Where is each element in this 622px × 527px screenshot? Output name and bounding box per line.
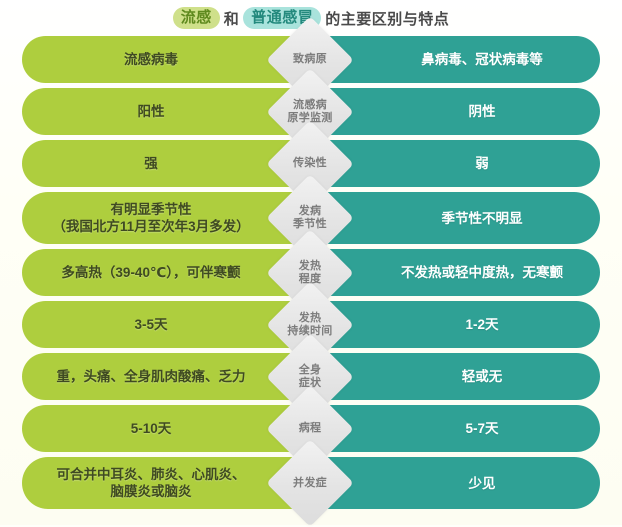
text-line: 鼻病毒、冠状病毒等 [421,51,543,68]
row-right-text: 季节性不明显 [442,210,523,227]
row-left-text: 5-10天 [131,420,172,437]
title-conjunction: 和 [224,8,240,29]
comparison-rows: 流感病毒鼻病毒、冠状病毒等致病原阳性阴性流感病原学监测强弱传染性有明显季节性（我… [0,36,622,514]
row-right-text: 1-2天 [465,316,498,333]
row-right-commoncold-cell: 季节性不明显 [322,192,600,244]
row-right-commoncold-cell: 鼻病毒、冠状病毒等 [322,36,600,83]
row-right-text: 轻或无 [462,368,503,385]
text-line: 有明显季节性 [52,201,249,218]
row-left-text: 多高热（39-40℃），可伴寒颤 [61,264,240,281]
text-line: 季节性不明显 [442,210,523,227]
row-right-commoncold-cell: 轻或无 [322,353,600,400]
title-pill-influenza: 流感 [173,7,220,29]
row-right-commoncold-cell: 弱 [322,140,600,187]
text-line: 5-7天 [465,420,498,437]
row-right-commoncold-cell: 不发热或轻中度热，无寒颤 [322,249,600,296]
row-left-text: 流感病毒 [124,51,178,68]
row-right-text: 不发热或轻中度热，无寒颤 [401,264,563,281]
row-right-text: 5-7天 [465,420,498,437]
text-line: 多高热（39-40℃），可伴寒颤 [61,264,240,281]
row-left-text: 可合并中耳炎、肺炎、心肌炎、脑膜炎或脑炎 [57,466,246,500]
category-diamond-shape [266,439,354,527]
text-line: 脑膜炎或脑炎 [57,483,246,500]
row-right-text: 鼻病毒、冠状病毒等 [421,51,543,68]
comparison-row: 可合并中耳炎、肺炎、心肌炎、脑膜炎或脑炎少见并发症 [0,457,622,509]
title-suffix: 的主要区别与特点 [325,8,449,29]
text-line: 弱 [475,155,489,172]
row-right-commoncold-cell: 5-7天 [322,405,600,452]
text-line: 强 [144,155,158,172]
text-line: 少见 [469,475,496,492]
row-right-text: 少见 [469,475,496,492]
text-line: 重，头痛、全身肌肉酸痛、乏力 [57,368,246,385]
text-line: 5-10天 [131,420,172,437]
row-right-commoncold-cell: 少见 [322,457,600,509]
row-left-text: 阳性 [138,103,165,120]
text-line: 可合并中耳炎、肺炎、心肌炎、 [57,466,246,483]
text-line: 轻或无 [462,368,503,385]
text-line: 阳性 [138,103,165,120]
text-line: （我国北方11月至次年3月多发） [52,218,249,235]
text-line: 阴性 [469,103,496,120]
row-right-commoncold-cell: 1-2天 [322,301,600,348]
infographic-page: 流感和普通感冒的主要区别与特点 流感病毒鼻病毒、冠状病毒等致病原阳性阴性流感病原… [0,0,622,525]
row-left-text: 有明显季节性（我国北方11月至次年3月多发） [52,201,249,235]
row-left-text: 重，头痛、全身肌肉酸痛、乏力 [57,368,246,385]
text-line: 流感病毒 [124,51,178,68]
text-line: 1-2天 [465,316,498,333]
row-right-commoncold-cell: 阴性 [322,88,600,135]
row-left-text: 3-5天 [134,316,167,333]
text-line: 不发热或轻中度热，无寒颤 [401,264,563,281]
row-right-text: 弱 [475,155,489,172]
row-left-text: 强 [144,155,158,172]
text-line: 3-5天 [134,316,167,333]
row-right-text: 阴性 [469,103,496,120]
